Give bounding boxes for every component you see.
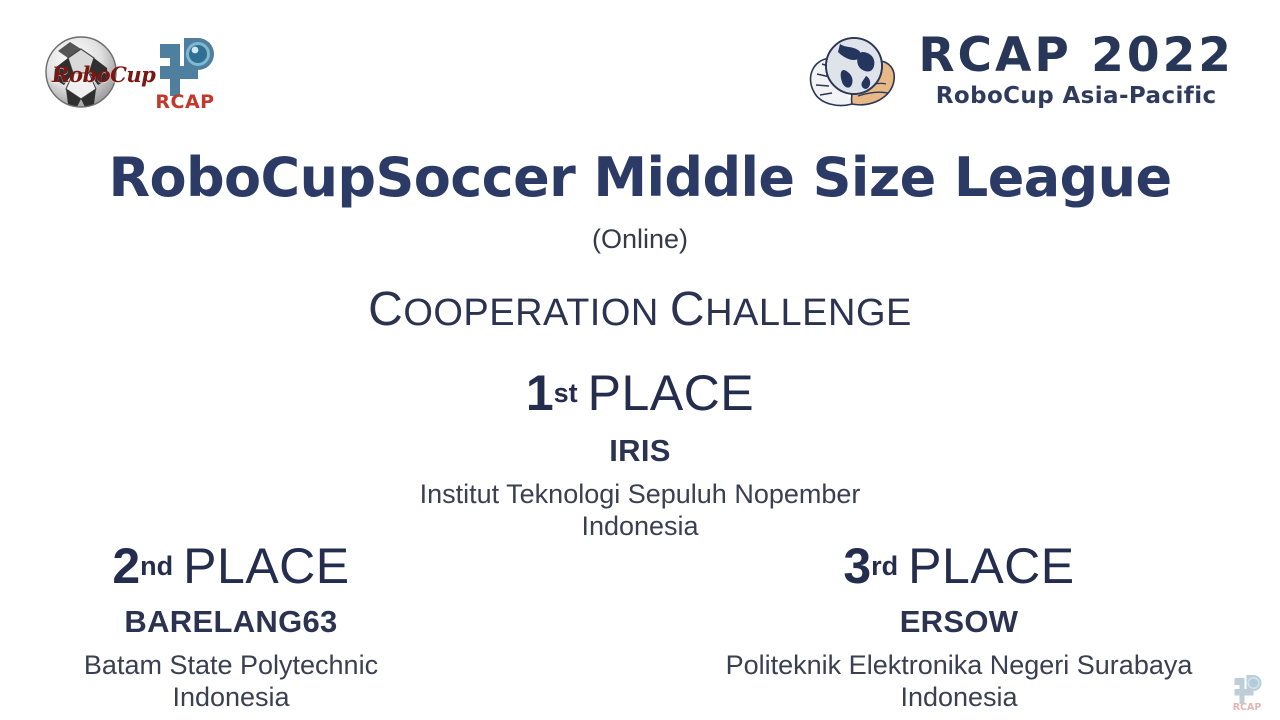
place-second-word: PLACE bbox=[183, 538, 349, 594]
challenge-word1-cap: C bbox=[368, 283, 403, 336]
challenge-name: COOPERATION CHALLENGE bbox=[0, 286, 1280, 334]
place-third-rank: 3 bbox=[843, 538, 871, 594]
place-third-word: PLACE bbox=[908, 538, 1074, 594]
place-third-ordinal: rd bbox=[871, 551, 898, 581]
svg-text:RCAP: RCAP bbox=[1233, 702, 1262, 712]
place-third-institution: Politeknik Elektronika Negeri Surabaya bbox=[726, 650, 1193, 680]
place-first-word: PLACE bbox=[588, 365, 754, 421]
league-title: RoboCupSoccer Middle Size League bbox=[0, 150, 1280, 207]
place-first-institution: Institut Teknologi Sepuluh Nopember bbox=[420, 479, 861, 509]
place-second-rank: 2 bbox=[112, 538, 140, 594]
place-third-block: 3rdPLACE ERSOW Politeknik Elektronika Ne… bbox=[690, 541, 1228, 714]
place-first-affiliation: Institut Teknologi Sepuluh Nopember Indo… bbox=[0, 478, 1280, 543]
slide-root: RoboCup RCAP bbox=[0, 0, 1280, 720]
place-second-block: 2ndPLACE BARELANG63 Batam State Polytech… bbox=[22, 541, 440, 714]
place-first-heading: 1stPLACE bbox=[0, 368, 1280, 418]
main-content: RoboCupSoccer Middle Size League (Online… bbox=[0, 0, 1280, 720]
place-third-team: ERSOW bbox=[690, 605, 1228, 639]
place-second-affiliation: Batam State Polytechnic Indonesia bbox=[22, 649, 440, 714]
place-second-team: BARELANG63 bbox=[22, 605, 440, 639]
place-first-ordinal: st bbox=[554, 378, 578, 408]
league-mode: (Online) bbox=[0, 224, 1280, 255]
challenge-word1-rest: OOPERATION bbox=[403, 292, 659, 334]
place-third-heading: 3rdPLACE bbox=[690, 541, 1228, 591]
place-first-team: IRIS bbox=[0, 434, 1280, 468]
place-second-institution: Batam State Polytechnic bbox=[84, 650, 378, 680]
place-second-heading: 2ndPLACE bbox=[22, 541, 440, 591]
place-first-block: 1stPLACE IRIS Institut Teknologi Sepuluh… bbox=[0, 368, 1280, 543]
place-second-country: Indonesia bbox=[22, 681, 440, 713]
place-first-rank: 1 bbox=[526, 365, 554, 421]
challenge-word2-rest: HALLENGE bbox=[705, 292, 912, 334]
place-third-country: Indonesia bbox=[690, 681, 1228, 713]
place-third-affiliation: Politeknik Elektronika Negeri Surabaya I… bbox=[690, 649, 1228, 714]
rcap-watermark-logo: RCAP bbox=[1230, 672, 1264, 712]
challenge-word2-cap: C bbox=[670, 283, 705, 336]
place-second-ordinal: nd bbox=[140, 551, 173, 581]
